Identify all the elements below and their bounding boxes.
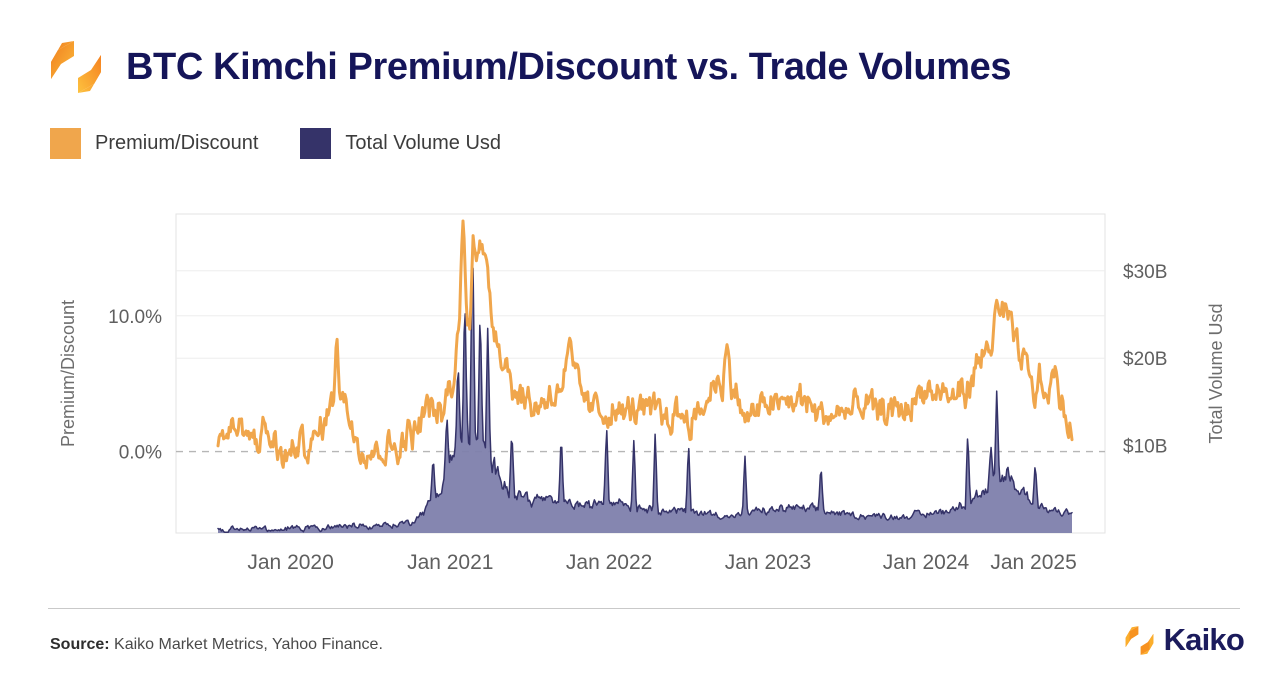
- y-axis-right-tick-label: $20B: [1123, 349, 1167, 370]
- x-axis-tick-label: Jan 2020: [247, 551, 333, 574]
- footer-wordmark: Kaiko: [1164, 622, 1244, 658]
- kaiko-hexagon-icon: [48, 38, 104, 96]
- legend-label-total-volume: Total Volume Usd: [345, 132, 501, 155]
- legend-item-premium-discount[interactable]: Premium/Discount: [50, 128, 258, 159]
- kaiko-hexagon-icon: [1124, 624, 1155, 657]
- page-title: BTC Kimchi Premium/Discount vs. Trade Vo…: [126, 46, 1011, 89]
- y-axis-left-tick-label: 0.0%: [119, 443, 162, 464]
- source-note: Source: Kaiko Market Metrics, Yahoo Fina…: [50, 636, 383, 654]
- y-axis-left-tick-label: 10.0%: [108, 307, 162, 328]
- page-header: BTC Kimchi Premium/Discount vs. Trade Vo…: [48, 38, 1011, 96]
- legend-swatch-total-volume: [300, 128, 331, 159]
- legend-swatch-premium-discount: [50, 128, 81, 159]
- x-axis-tick-label: Jan 2024: [883, 551, 970, 574]
- legend-item-total-volume[interactable]: Total Volume Usd: [300, 128, 501, 159]
- chart-legend: Premium/Discount Total Volume Usd: [50, 128, 501, 159]
- y-axis-right-title: Total Volume Usd: [1206, 303, 1226, 443]
- y-axis-right-tick-label: $10B: [1123, 437, 1167, 458]
- legend-label-premium-discount: Premium/Discount: [95, 132, 258, 155]
- chart-container: 0.0%10.0%$10B$20B$30BJan 2020Jan 2021Jan…: [0, 190, 1288, 590]
- y-axis-right-tick-label: $30B: [1123, 262, 1167, 283]
- footer-brand: Kaiko: [1124, 622, 1244, 658]
- footer-divider: [48, 608, 1240, 609]
- x-axis-tick-label: Jan 2022: [566, 551, 652, 574]
- x-axis-tick-label: Jan 2023: [725, 551, 811, 574]
- kimchi-premium-chart: 0.0%10.0%$10B$20B$30BJan 2020Jan 2021Jan…: [0, 190, 1288, 590]
- y-axis-left-title: Premium/Discount: [58, 300, 78, 447]
- x-axis-tick-label: Jan 2021: [407, 551, 493, 574]
- x-axis-tick-label: Jan 2025: [990, 551, 1076, 574]
- source-text: Kaiko Market Metrics, Yahoo Finance.: [114, 636, 383, 653]
- source-label: Source:: [50, 636, 110, 653]
